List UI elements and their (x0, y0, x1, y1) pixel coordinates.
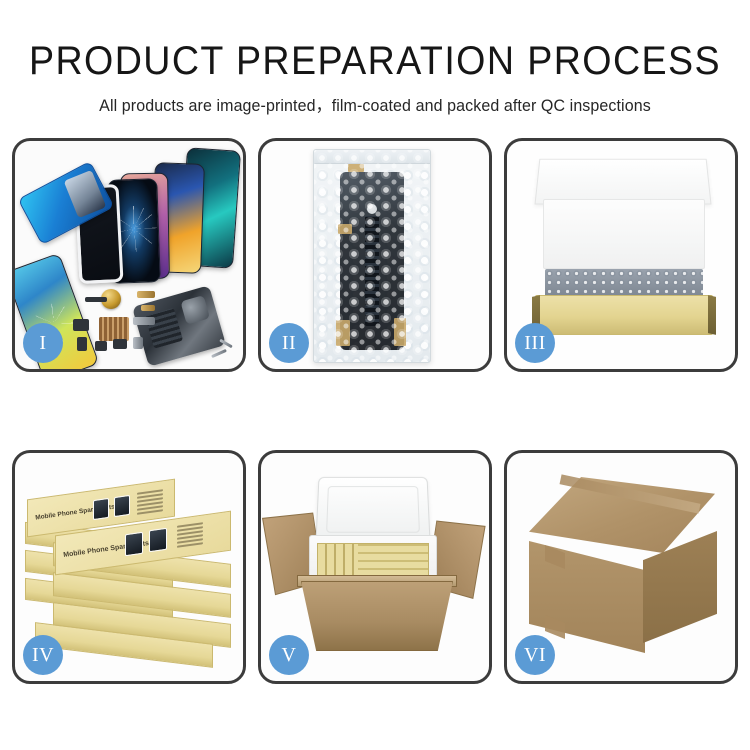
header: PRODUCT PREPARATION PROCESS All products… (0, 0, 750, 116)
bubble-wrap-bag (313, 149, 431, 363)
part-screw-a (211, 349, 227, 358)
box-bullets-lower (177, 522, 203, 548)
part-camera (77, 337, 87, 351)
part-button (113, 339, 127, 349)
box-thumb-lower-a (125, 532, 143, 557)
step-badge-3: III (515, 323, 555, 363)
tape-mid (338, 224, 352, 234)
part-gold-chip (141, 305, 155, 311)
box-thumb-lower-b (149, 528, 167, 553)
foam-lid (315, 477, 430, 543)
step-panel-4: Mobile Phone Spare Parts Mobile Phone Sp… (12, 450, 246, 684)
step-panel-5: V (258, 450, 492, 684)
step-panel-3: III (504, 138, 738, 372)
part-flex-cable (133, 317, 155, 325)
carton-body (301, 581, 453, 651)
box-lid (534, 159, 711, 205)
box-body (535, 295, 713, 335)
step-badge-1: I (23, 323, 63, 363)
step-panel-1: I (12, 138, 246, 372)
step-badge-5: V (269, 635, 309, 675)
step-badge-6: VI (515, 635, 555, 675)
page-subtitle: All products are image-printed，film-coat… (11, 92, 739, 116)
page-title: PRODUCT PREPARATION PROCESS (23, 40, 728, 82)
part-gold-flex (137, 291, 155, 298)
step-badge-2: II (269, 323, 309, 363)
box-thumb-upper-b (114, 495, 130, 517)
box-bullets-upper (137, 489, 163, 515)
chip-array-component (99, 317, 129, 341)
step-panel-2: II (258, 138, 492, 372)
box-thumb-upper-a (93, 498, 109, 520)
tape-bottom-right (394, 318, 406, 346)
bag-seal (314, 150, 430, 164)
screen-flex-cable (365, 216, 379, 326)
part-sensor (133, 337, 143, 349)
part-bracket (73, 319, 89, 331)
part-speaker (95, 341, 107, 351)
step-panel-6: VI (504, 450, 738, 684)
part-connector (85, 297, 107, 302)
step-badge-4: IV (23, 635, 63, 675)
product-preparation-infographic: PRODUCT PREPARATION PROCESS All products… (0, 0, 750, 750)
tape-top (348, 164, 364, 172)
foam-sheet (543, 199, 705, 269)
tape-bottom-left (336, 320, 350, 346)
process-step-grid: I II (12, 138, 738, 684)
